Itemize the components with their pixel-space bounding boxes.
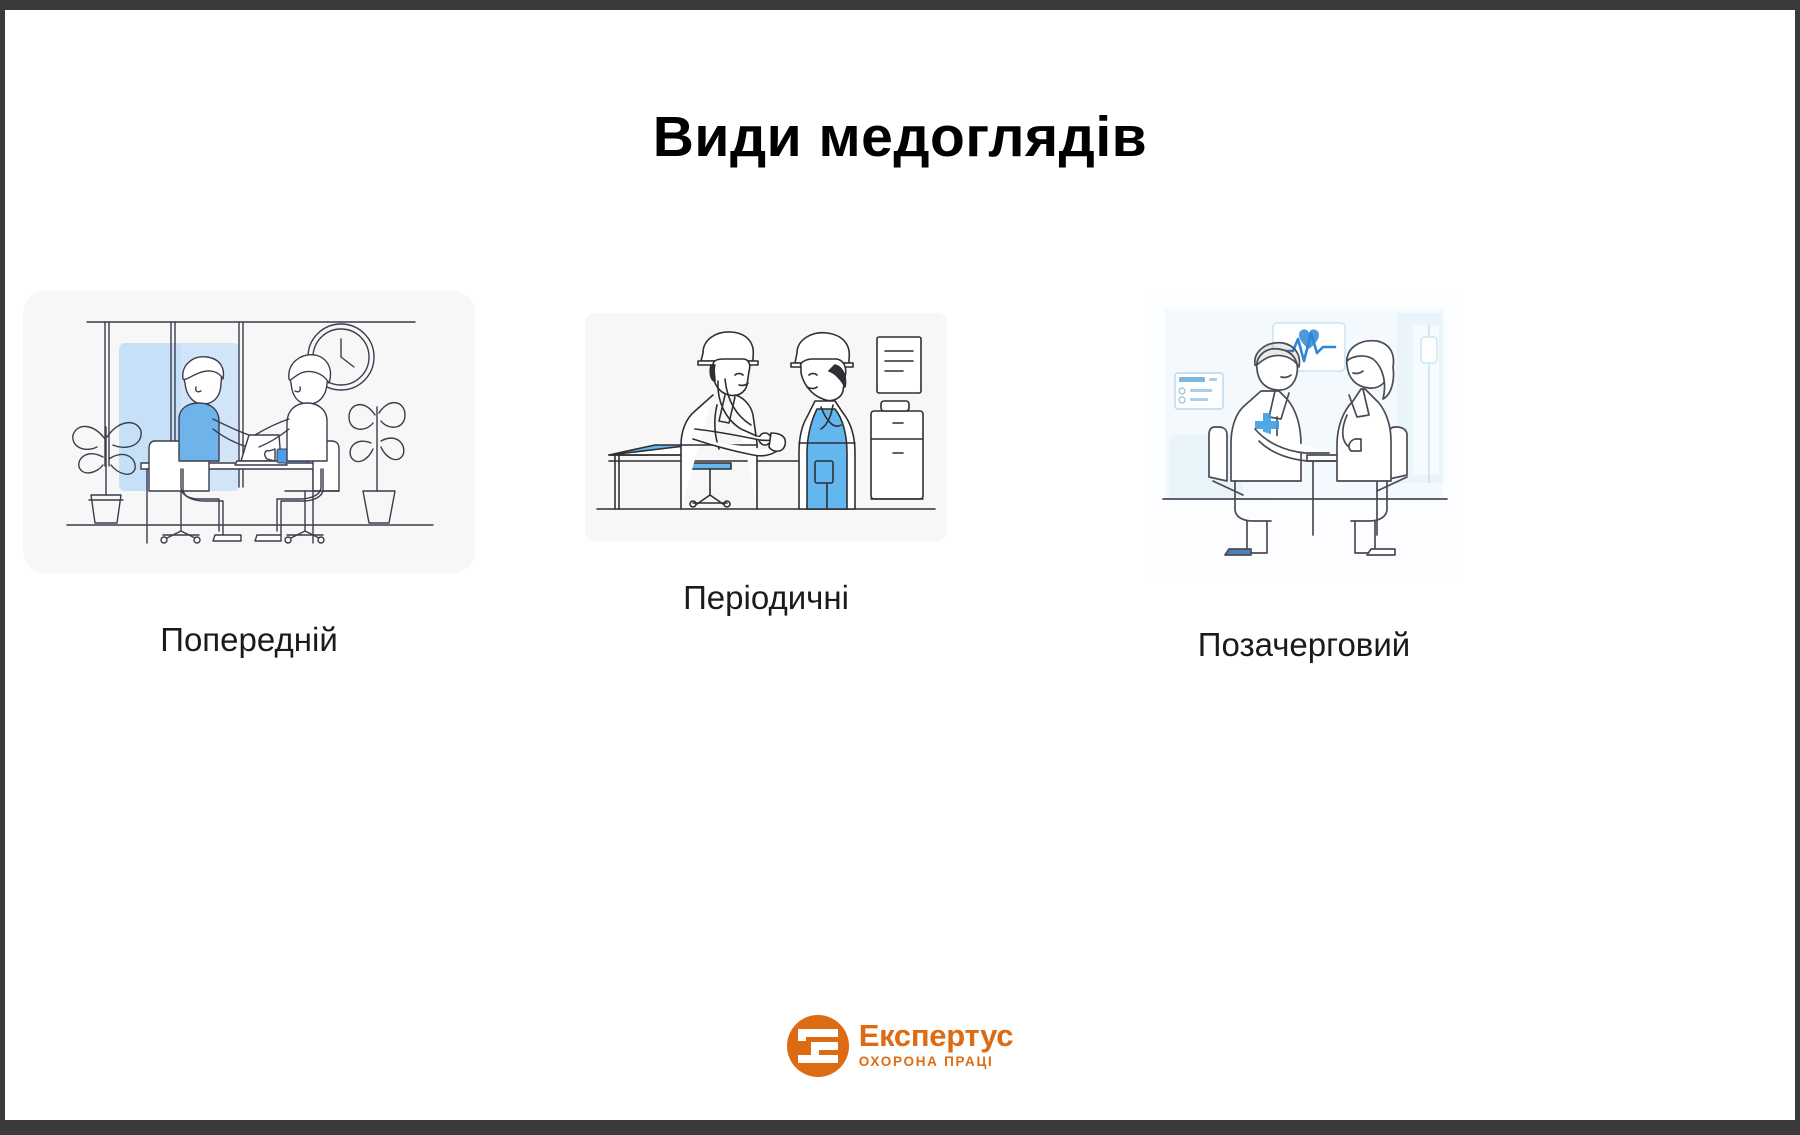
hr-interview-illustration: HR [23,291,475,573]
expertus-logo: Експертус ОХОРОНА ПРАЦІ [5,1015,1795,1077]
worker-medical-exam-illustration-svg [585,313,947,541]
slide-canvas: Види медоглядів [5,10,1795,1120]
medical-exam-type-card-3: Позачерговий [1151,295,1457,664]
card-caption-1: Попередній [23,621,475,659]
doctor-consultation-illustration [1151,295,1457,583]
expertus-e-mark-icon [787,1015,849,1077]
medical-exam-type-card-1: HR [23,291,475,659]
slide-frame: Види медоглядів [0,0,1800,1135]
doctor-consultation-illustration-svg [1151,295,1457,583]
logo-text-block: Експертус ОХОРОНА ПРАЦІ [859,1020,1013,1072]
hr-interview-illustration-svg: HR [23,291,475,573]
card-caption-3: Позачерговий [1151,626,1457,664]
worker-medical-exam-illustration [585,313,947,541]
medical-exam-type-card-2: Періодичні [585,313,947,617]
logo-subtitle: ОХОРОНА ПРАЦІ [859,1055,1013,1069]
logo-name: Експертус [859,1020,1013,1051]
card-caption-2: Періодичні [585,579,947,617]
page-title: Види медоглядів [5,108,1795,168]
